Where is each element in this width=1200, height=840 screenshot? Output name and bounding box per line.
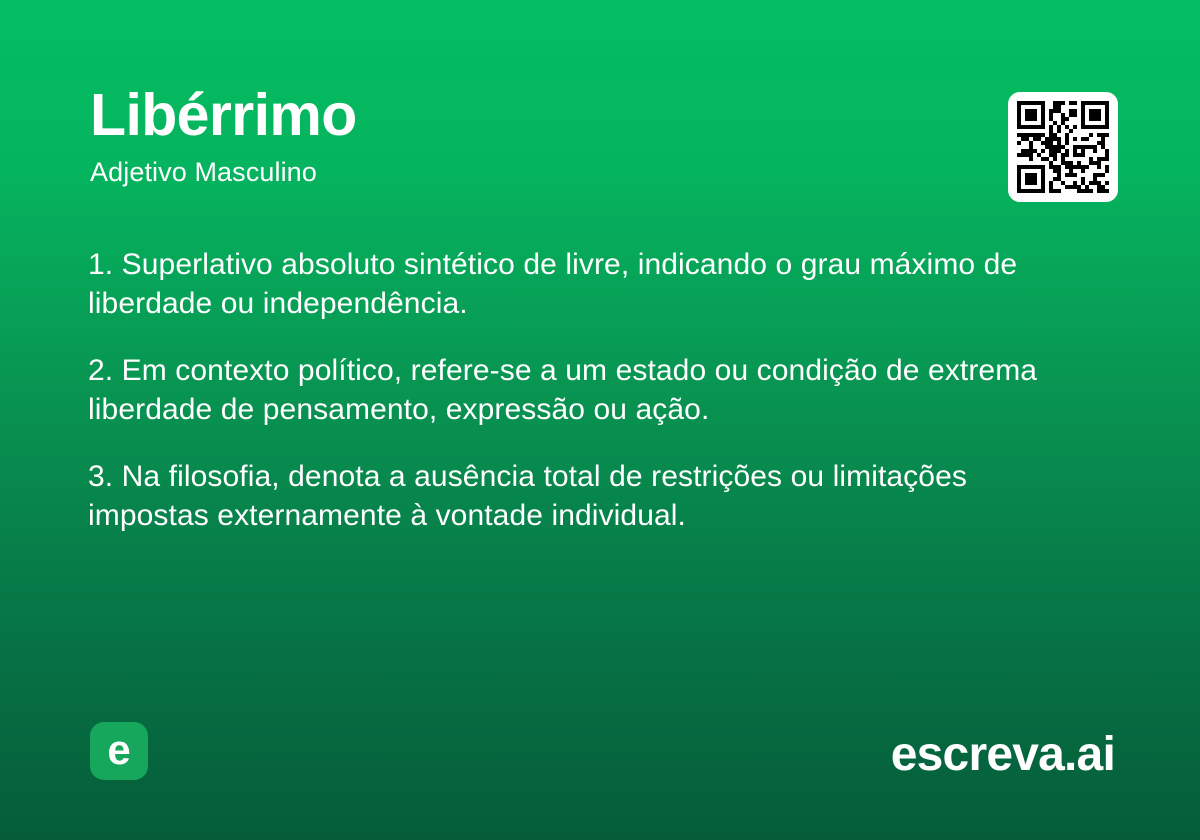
- card-footer: e escreva.ai: [0, 700, 1200, 840]
- qr-code-icon: [1017, 101, 1109, 193]
- definition-item: 3. Na filosofia, denota a ausência total…: [88, 458, 1078, 535]
- definition-item: 1. Superlativo absoluto sintético de liv…: [88, 246, 1078, 323]
- brand-logo-letter: e: [107, 729, 130, 771]
- brand-logo-icon: e: [90, 722, 148, 780]
- definition-item: 2. Em contexto político, refere-se a um …: [88, 352, 1078, 429]
- grammatical-class-label: Adjetivo Masculino: [90, 156, 970, 188]
- card-header: Libérrimo Adjetivo Masculino: [90, 84, 970, 188]
- definition-list: 1. Superlativo absoluto sintético de liv…: [88, 246, 1078, 535]
- qr-code-container[interactable]: [1008, 92, 1118, 202]
- dictionary-card: Libérrimo Adjetivo Masculino 1. Superlat…: [0, 0, 1200, 840]
- brand-wordmark: escreva.ai: [891, 728, 1115, 782]
- page-title: Libérrimo: [90, 84, 970, 146]
